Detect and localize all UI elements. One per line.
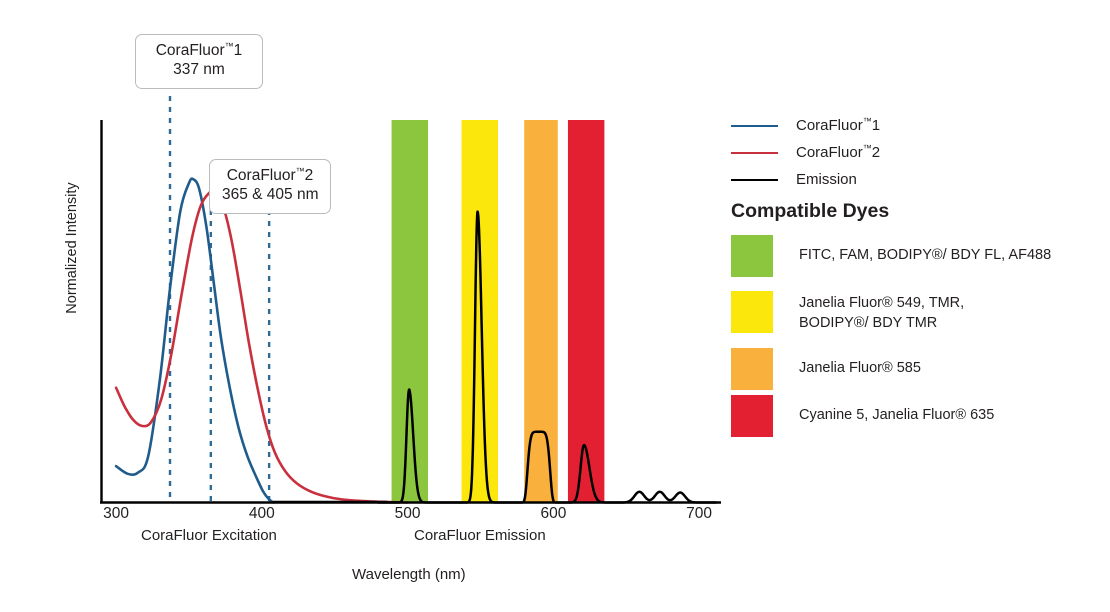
dye-swatch-yellow xyxy=(731,291,773,333)
dye-label-yellow-line1: Janelia Fluor® 549, TMR, xyxy=(799,295,964,311)
excitation-region-label: CoraFluor Excitation xyxy=(141,527,277,544)
legend-item-corafluor-1: CoraFluor™1 xyxy=(731,112,1091,139)
curve-corafluor2 xyxy=(116,191,408,503)
y-axis-label: Normalized Intensity xyxy=(64,158,80,338)
callout-corafluor-2: CoraFluor™2 365 & 405 nm xyxy=(209,159,331,214)
legend-item-emission: Emission xyxy=(731,166,1091,193)
trademark-icon: ™ xyxy=(225,41,234,51)
legend-label-2: CoraFluor xyxy=(796,144,863,161)
dye-swatch-red xyxy=(731,395,773,437)
x-tick-600: 600 xyxy=(540,505,566,523)
dye-band-1 xyxy=(462,120,498,503)
legend-index-2: 2 xyxy=(872,144,880,161)
dye-entry-green: FITC, FAM, BODIPY®/ BDY FL, AF488 xyxy=(731,235,1051,277)
trademark-icon: ™ xyxy=(863,116,872,126)
legend-label-1: CoraFluor xyxy=(796,117,863,134)
x-tick-400: 400 xyxy=(249,505,275,523)
callout-1-value: 337 nm xyxy=(148,61,250,80)
dye-swatch-green xyxy=(731,235,773,277)
series-legend: CoraFluor™1 CoraFluor™2 Emission xyxy=(731,112,1091,193)
dye-entry-orange: Janelia Fluor® 585 xyxy=(731,348,921,390)
legend-swatch-line xyxy=(731,152,778,154)
x-tick-300: 300 xyxy=(103,505,129,523)
callout-2-index: 2 xyxy=(305,167,314,184)
trademark-icon: ™ xyxy=(296,166,305,176)
dye-entry-yellow: Janelia Fluor® 549, TMR, BODIPY®/ BDY TM… xyxy=(731,291,964,333)
callout-2-name: CoraFluor xyxy=(227,167,296,184)
legend-index-1: 1 xyxy=(872,117,880,134)
callout-1-name: CoraFluor xyxy=(156,42,225,59)
dye-swatch-orange xyxy=(731,348,773,390)
dye-entry-red: Cyanine 5, Janelia Fluor® 635 xyxy=(731,395,994,437)
x-tick-500: 500 xyxy=(395,505,421,523)
trademark-icon: ™ xyxy=(863,143,872,153)
legend-swatch-line xyxy=(731,179,778,181)
dye-band-layer xyxy=(392,120,605,503)
callout-1-index: 1 xyxy=(234,42,243,59)
dye-label-orange-line1: Janelia Fluor® 585 xyxy=(799,360,921,376)
emission-region-label: CoraFluor Emission xyxy=(414,527,546,544)
excitation-marker-layer xyxy=(170,96,269,503)
callout-corafluor-1: CoraFluor™1 337 nm xyxy=(135,34,263,89)
dye-label-green-line1: FITC, FAM, BODIPY®/ BDY FL, AF488 xyxy=(799,247,1051,263)
dye-band-3 xyxy=(568,120,604,503)
x-axis-title: Wavelength (nm) xyxy=(352,566,466,583)
dye-label-red-line1: Cyanine 5, Janelia Fluor® 635 xyxy=(799,407,994,423)
dye-band-0 xyxy=(392,120,428,503)
dye-label-yellow-line2: BODIPY®/ BDY TMR xyxy=(799,315,937,331)
x-tick-700: 700 xyxy=(686,505,712,523)
legend-item-corafluor-2: CoraFluor™2 xyxy=(731,139,1091,166)
callout-2-value: 365 & 405 nm xyxy=(222,186,318,205)
legend-label-3: Emission xyxy=(796,171,857,188)
legend-swatch-line xyxy=(731,125,778,127)
compatible-dyes-heading: Compatible Dyes xyxy=(731,200,889,223)
